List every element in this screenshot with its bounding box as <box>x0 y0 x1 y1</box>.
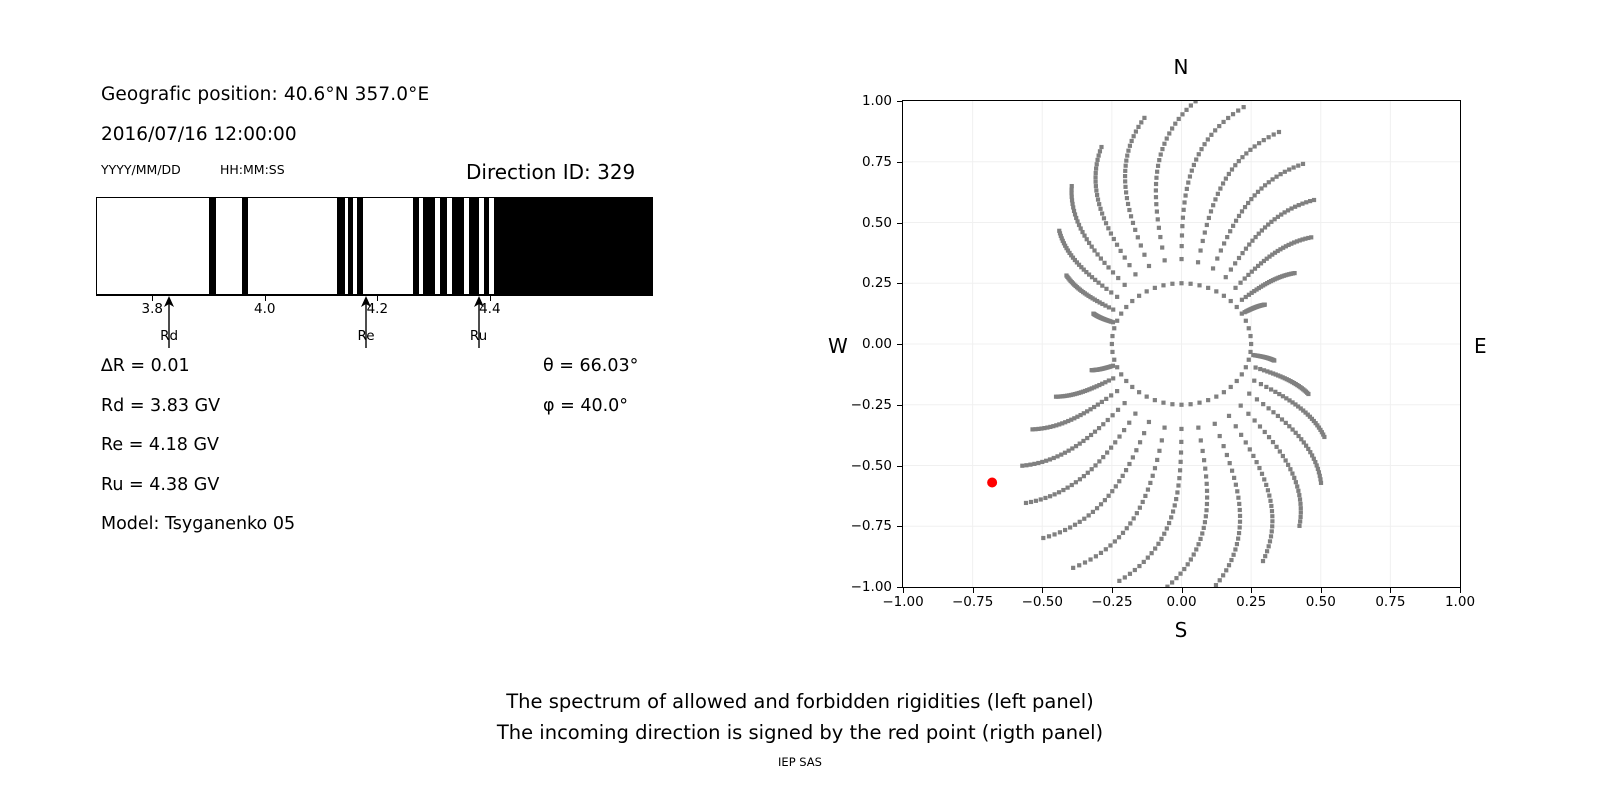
scatter-x-tick <box>1460 588 1461 593</box>
forbidden-band <box>469 197 479 295</box>
scatter-point <box>1297 524 1301 528</box>
scatter-point <box>1109 446 1113 450</box>
scatter-point <box>1115 319 1119 323</box>
scatter-point <box>1249 197 1253 201</box>
scatter-point <box>1222 390 1226 394</box>
scatter-point <box>1319 481 1323 485</box>
scatter-point <box>1089 433 1093 437</box>
scatter-point <box>1162 142 1166 146</box>
scatter-point <box>1188 282 1192 286</box>
scatter-point <box>1057 490 1061 494</box>
scatter-x-tick-label: 0.50 <box>1306 594 1336 610</box>
direction-scatter-svg <box>903 101 1460 587</box>
scatter-point <box>1090 467 1094 471</box>
scatter-point <box>1293 205 1297 209</box>
scatter-point <box>1123 169 1127 173</box>
scatter-point <box>1205 482 1209 486</box>
scatter-point <box>1085 436 1089 440</box>
scatter-y-tick-label: 0.75 <box>832 154 892 170</box>
scatter-point <box>1123 283 1127 287</box>
scatter-point <box>1153 286 1157 290</box>
scatter-point <box>1116 408 1120 412</box>
scatter-point <box>1153 398 1157 402</box>
scatter-point <box>1115 389 1119 393</box>
scatter-point <box>1203 467 1207 471</box>
scatter-point <box>1233 547 1237 551</box>
scatter-point <box>1233 163 1237 167</box>
scatter-point <box>1244 365 1248 369</box>
scatter-x-tick <box>1042 588 1043 593</box>
scatter-point <box>1267 544 1271 548</box>
scatter-point <box>1124 305 1128 309</box>
scatter-point <box>1180 224 1184 228</box>
scatter-point <box>1269 387 1273 391</box>
scatter-point <box>1097 426 1101 430</box>
scatter-point <box>1286 463 1290 467</box>
scatter-point <box>1088 557 1092 561</box>
incoming-direction-point <box>987 478 997 488</box>
scatter-point <box>1057 229 1061 233</box>
scatter-point <box>1167 521 1171 525</box>
scatter-point <box>1227 172 1231 176</box>
scatter-point <box>1136 235 1140 239</box>
scatter-y-tick-label: 0.25 <box>832 275 892 291</box>
scatter-point <box>1115 243 1119 247</box>
scatter-point <box>1052 532 1056 536</box>
scatter-point <box>1123 185 1127 189</box>
scatter-point <box>1178 468 1182 472</box>
scatter-x-tick-label: 1.00 <box>1445 594 1475 610</box>
scatter-point <box>1234 483 1238 487</box>
scatter-point <box>1207 216 1211 220</box>
scatter-point <box>1099 256 1103 260</box>
scatter-point <box>1267 406 1271 410</box>
scatter-point <box>1180 244 1184 248</box>
scatter-point <box>1183 193 1187 197</box>
forbidden-band <box>348 197 353 295</box>
scatter-point <box>1267 435 1271 439</box>
scatter-point <box>1221 573 1225 577</box>
date-format-hint: YYYY/MM/DD <box>101 162 181 177</box>
scatter-point <box>1235 305 1239 309</box>
scatter-point <box>1272 132 1276 136</box>
scatter-point <box>1165 136 1169 140</box>
scatter-point <box>1064 273 1068 277</box>
scatter-x-tick <box>1390 588 1391 593</box>
scatter-x-tick <box>1251 588 1252 593</box>
scatter-point <box>1128 572 1132 576</box>
scatter-point <box>1104 287 1108 291</box>
scatter-point <box>1114 484 1118 488</box>
scatter-y-tick <box>897 162 902 163</box>
scatter-point <box>1268 539 1272 543</box>
scatter-point <box>1227 563 1231 567</box>
scatter-point <box>1201 239 1205 243</box>
scatter-point <box>1131 221 1135 225</box>
scatter-point <box>1193 101 1197 103</box>
scatter-point <box>1130 139 1134 143</box>
scatter-point <box>1199 147 1203 151</box>
scatter-point <box>1115 295 1119 299</box>
scatter-point <box>1184 108 1188 112</box>
scatter-point <box>1224 177 1228 181</box>
scatter-point <box>1250 239 1254 243</box>
scatter-point <box>1304 200 1308 204</box>
scatter-point <box>1098 149 1102 153</box>
scatter-point <box>1306 392 1310 396</box>
scatter-point <box>1214 583 1218 587</box>
scatter-x-tick <box>1321 588 1322 593</box>
scatter-point <box>1274 445 1278 449</box>
scatter-point <box>1237 159 1241 163</box>
scatter-point <box>1224 568 1228 572</box>
scatter-point <box>1231 553 1235 557</box>
scatter-point <box>1242 105 1246 109</box>
scatter-point <box>1162 426 1166 430</box>
scatter-point <box>1098 207 1102 211</box>
scatter-point <box>1170 282 1174 286</box>
scatter-point <box>1202 142 1206 146</box>
scatter-point <box>1232 476 1236 480</box>
scatter-point <box>1111 270 1115 274</box>
scatter-point <box>1090 245 1094 249</box>
scatter-point <box>1279 172 1283 176</box>
scatter-point <box>1131 455 1135 459</box>
scatter-point <box>1082 474 1086 478</box>
scatter-point <box>1153 546 1157 550</box>
scatter-point <box>1181 216 1185 220</box>
scatter-point <box>1246 412 1250 416</box>
scatter-point <box>1092 248 1096 252</box>
scatter-point <box>1094 166 1098 170</box>
scatter-point <box>1112 237 1116 241</box>
scatter-point <box>1213 197 1217 201</box>
scatter-point <box>1097 459 1101 463</box>
scatter-point <box>1283 170 1287 174</box>
scatter-point <box>1147 264 1151 268</box>
scatter-point <box>1034 499 1038 503</box>
scatter-point <box>1070 446 1074 450</box>
scatter-point <box>1204 514 1208 518</box>
scatter-point <box>1078 520 1082 524</box>
scatter-point <box>1182 567 1186 571</box>
scatter-point <box>1287 167 1291 171</box>
scatter-point <box>1201 449 1205 453</box>
scatter-point <box>1123 179 1127 183</box>
scatter-point <box>1308 199 1312 203</box>
scatter-point <box>1082 517 1086 521</box>
scatter-point <box>1095 252 1099 256</box>
scatter-point <box>1229 299 1233 303</box>
scatter-point <box>1189 103 1193 107</box>
scatter-point <box>1270 514 1274 518</box>
scatter-point <box>1099 551 1103 555</box>
scatter-point <box>1209 209 1213 213</box>
scatter-point <box>1190 169 1194 173</box>
scatter-point <box>1213 128 1217 132</box>
scatter-point <box>1028 463 1032 467</box>
scatter-point <box>1299 506 1303 510</box>
scatter-point <box>1106 265 1110 269</box>
scatter-point <box>1247 242 1251 246</box>
scatter-point <box>1128 521 1132 525</box>
scatter-point <box>1091 510 1095 514</box>
scatter-point <box>1165 585 1169 587</box>
parameter-text: Re = 4.18 GV <box>101 435 219 455</box>
scatter-point <box>1271 440 1275 444</box>
scatter-point <box>1048 494 1052 498</box>
scatter-point <box>1262 138 1266 142</box>
scatter-point <box>1024 463 1028 467</box>
footer-credit: IEP SAS <box>0 755 1600 769</box>
scatter-point <box>1263 303 1267 307</box>
scatter-point <box>1294 480 1298 484</box>
scatter-point <box>1177 117 1181 121</box>
parameter-text: ∆R = 0.01 <box>101 356 190 376</box>
scatter-point <box>1142 116 1146 120</box>
scatter-point <box>1214 395 1218 399</box>
scatter-point <box>1047 534 1051 538</box>
scatter-point <box>1259 382 1263 386</box>
scatter-point <box>1142 560 1146 564</box>
scatter-y-tick-label: −0.50 <box>832 458 892 474</box>
scatter-point <box>1288 467 1292 471</box>
scatter-point <box>1261 559 1265 563</box>
scatter-point <box>1240 298 1244 302</box>
scatter-point <box>1233 286 1237 290</box>
scatter-point <box>1205 502 1209 506</box>
scatter-point <box>1236 496 1240 500</box>
scatter-point <box>1123 401 1127 405</box>
scatter-point <box>1236 108 1240 112</box>
scatter-point <box>1244 247 1248 251</box>
scatter-point <box>1104 547 1108 551</box>
forbidden-band <box>440 197 447 295</box>
scatter-point <box>1265 549 1269 553</box>
scatter-point <box>1218 578 1222 582</box>
scatter-point <box>1238 514 1242 518</box>
scatter-point <box>1039 497 1043 501</box>
scatter-point <box>1063 451 1067 455</box>
scatter-point <box>1292 271 1296 275</box>
scatter-x-tick-label: 0.00 <box>1166 594 1196 610</box>
scatter-y-tick-label: −0.75 <box>832 518 892 534</box>
scatter-point <box>1297 493 1301 497</box>
scatter-point <box>1095 193 1099 197</box>
scatter-point <box>1145 289 1149 293</box>
scatter-point <box>1104 397 1108 401</box>
scatter-point <box>1218 186 1222 190</box>
scatter-point <box>1123 575 1127 579</box>
scatter-point <box>1227 414 1231 418</box>
scatter-point <box>1188 402 1192 406</box>
scatter-point <box>1157 226 1161 230</box>
left-panel: Geografic position: 40.6°N 357.0°E 2016/… <box>0 0 760 680</box>
scatter-point <box>1248 148 1252 152</box>
scatter-point <box>1226 116 1230 120</box>
scatter-point <box>1213 422 1217 426</box>
scatter-point <box>1217 124 1221 128</box>
scatter-point <box>1074 480 1078 484</box>
scatter-point <box>1154 202 1158 206</box>
scatter-point <box>1180 233 1184 237</box>
scatter-point <box>1179 281 1183 285</box>
scatter-point <box>1237 531 1241 535</box>
scatter-point <box>1109 231 1113 235</box>
scatter-point <box>1254 365 1258 369</box>
scatter-point <box>1167 131 1171 135</box>
scatter-point <box>1154 188 1158 192</box>
scatter-point <box>1222 294 1226 298</box>
scatter-point <box>1170 402 1174 406</box>
scatter-point <box>1225 453 1229 457</box>
scatter-point <box>1151 474 1155 478</box>
scatter-point <box>1154 195 1158 199</box>
scatter-x-tick <box>1112 588 1113 593</box>
scatter-point <box>1153 466 1157 470</box>
scatter-point <box>1262 477 1266 481</box>
scatter-x-tick-label: −0.50 <box>1022 594 1063 610</box>
scatter-point <box>1222 444 1226 448</box>
scatter-point <box>1148 481 1152 485</box>
scatter-point <box>1138 506 1142 510</box>
scatter-point <box>1108 543 1112 547</box>
scatter-point <box>1252 379 1256 383</box>
scatter-point <box>1233 261 1237 265</box>
scatter-point <box>1202 526 1206 530</box>
scatter-point <box>1124 379 1128 383</box>
time-format-hint: HH:MM:SS <box>220 162 285 177</box>
scatter-point <box>1041 536 1045 540</box>
scatter-point <box>1146 556 1150 560</box>
parameter-text: Model: Tsyganenko 05 <box>101 514 295 534</box>
scatter-point <box>1133 568 1137 572</box>
scatter-point <box>1257 466 1261 470</box>
scatter-x-tick-label: −0.75 <box>952 594 993 610</box>
scatter-point <box>1141 500 1145 504</box>
scatter-point <box>1197 401 1201 405</box>
scatter-point <box>1177 476 1181 480</box>
scatter-point <box>1240 251 1244 255</box>
rigidity-spectrum-chart <box>96 197 652 295</box>
scatter-point <box>1266 488 1270 492</box>
scatter-point <box>1244 440 1248 444</box>
scatter-point <box>1074 444 1078 448</box>
scatter-point <box>1142 431 1146 435</box>
scatter-y-tick-label: 1.00 <box>832 93 892 109</box>
scatter-point <box>1258 424 1262 428</box>
scatter-point <box>1081 439 1085 443</box>
scatter-point <box>1231 224 1235 228</box>
scatter-point <box>1156 164 1160 168</box>
caption-line-1: The spectrum of allowed and forbidden ri… <box>0 686 1600 717</box>
scatter-point <box>1247 326 1251 330</box>
scatter-point <box>1301 162 1305 166</box>
compass-south-label: S <box>1175 618 1188 642</box>
datetime-label: 2016/07/16 12:00:00 <box>101 124 297 145</box>
scatter-x-tick <box>1182 588 1183 593</box>
scatter-point <box>1159 152 1163 156</box>
scatter-point <box>1243 205 1247 209</box>
scatter-point <box>1100 211 1104 215</box>
scatter-point <box>1197 283 1201 287</box>
scatter-point <box>1127 421 1131 425</box>
scatter-point <box>1105 450 1109 454</box>
scatter-point <box>1238 520 1242 524</box>
scatter-point <box>1171 509 1175 513</box>
scatter-point <box>1234 424 1238 428</box>
scatter-point <box>1040 460 1044 464</box>
scatter-point <box>1254 460 1258 464</box>
scatter-point <box>1139 120 1143 124</box>
scatter-point <box>1126 202 1130 206</box>
scatter-point <box>1298 497 1302 501</box>
scatter-point <box>1270 519 1274 523</box>
scatter-point <box>1174 497 1178 501</box>
scatter-point <box>1073 523 1077 527</box>
scatter-point <box>1158 235 1162 239</box>
scatter-point <box>1077 563 1081 567</box>
scatter-point <box>1020 464 1024 468</box>
scatter-point <box>1147 420 1151 424</box>
scatter-point <box>1100 284 1104 288</box>
scatter-point <box>1146 487 1150 491</box>
forbidden-band <box>357 197 363 295</box>
scatter-point <box>1263 554 1267 558</box>
scatter-point <box>1124 159 1128 163</box>
scatter-point <box>1251 454 1255 458</box>
scatter-point <box>1117 535 1121 539</box>
scatter-point <box>1269 534 1273 538</box>
scatter-point <box>1253 418 1257 422</box>
scatter-point <box>1182 208 1186 212</box>
forbidden-band <box>337 197 344 295</box>
scatter-point <box>1154 176 1158 180</box>
scatter-point <box>1273 390 1277 394</box>
scatter-point <box>1116 276 1120 280</box>
scatter-point <box>1296 489 1300 493</box>
scatter-point <box>1244 151 1248 155</box>
scatter-point <box>1122 428 1126 432</box>
scatter-point <box>1186 180 1190 184</box>
scatter-point <box>1179 450 1183 454</box>
scatter-point <box>1094 188 1098 192</box>
scatter-point <box>1109 393 1113 397</box>
scatter-point <box>1194 157 1198 161</box>
scatter-point <box>1162 532 1166 536</box>
scatter-point <box>1268 499 1272 503</box>
scatter-point <box>1277 130 1281 134</box>
scatter-point <box>1127 208 1131 212</box>
scatter-y-tick <box>897 283 902 284</box>
angle-parameter-text: φ = 40.0° <box>543 396 628 416</box>
scatter-point <box>1086 471 1090 475</box>
scatter-point <box>1298 519 1302 523</box>
scatter-point <box>1173 122 1177 126</box>
scatter-point <box>1129 214 1133 218</box>
scatter-point <box>1247 358 1251 362</box>
scatter-y-tick <box>897 101 902 102</box>
compass-north-label: N <box>1174 55 1189 79</box>
scatter-point <box>1036 461 1040 465</box>
scatter-point <box>1139 243 1143 247</box>
scatter-point <box>1101 422 1105 426</box>
scatter-point <box>1234 219 1238 223</box>
scatter-point <box>1048 457 1052 461</box>
scatter-point <box>1142 253 1146 257</box>
scatter-point <box>1113 440 1117 444</box>
scatter-point <box>1322 435 1326 439</box>
